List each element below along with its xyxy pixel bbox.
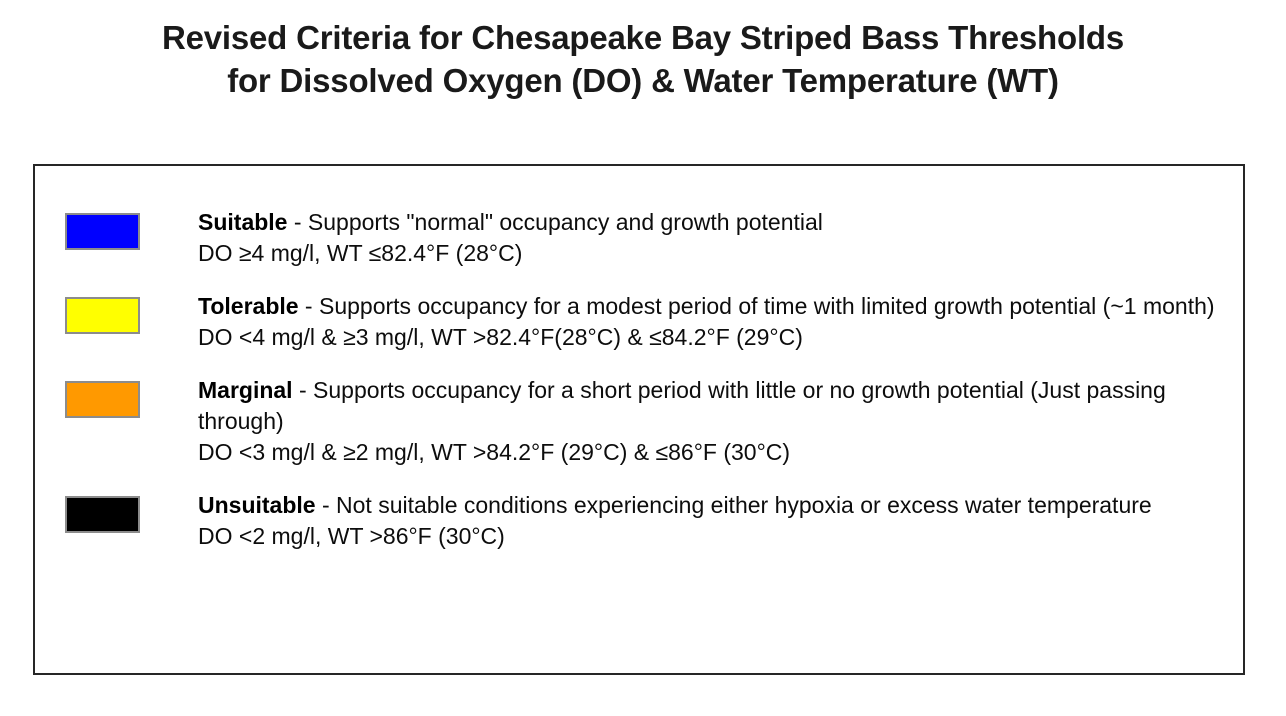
legend-item-marginal: Marginal - Supports occupancy for a shor… [65,375,1227,468]
legend-criteria: DO <3 mg/l & ≥2 mg/l, WT >84.2°F (29°C) … [198,437,1227,468]
legend-term: Tolerable [198,293,299,319]
legend-item-text: Suitable - Supports "normal" occupancy a… [198,207,1227,269]
legend-item-text: Unsuitable - Not suitable conditions exp… [198,490,1227,552]
legend-criteria: DO <4 mg/l & ≥3 mg/l, WT >82.4°F(28°C) &… [198,322,1227,353]
legend-description: Not suitable conditions experiencing eit… [336,492,1152,518]
legend-item-unsuitable: Unsuitable - Not suitable conditions exp… [65,490,1227,552]
swatch-unsuitable-icon [65,496,140,533]
page-title: Revised Criteria for Chesapeake Bay Stri… [40,16,1246,102]
page-title-line-2: for Dissolved Oxygen (DO) & Water Temper… [40,59,1246,102]
legend-item-text: Tolerable - Supports occupancy for a mod… [198,291,1227,353]
legend-term: Unsuitable [198,492,316,518]
swatch-marginal-icon [65,381,140,418]
legend-term: Suitable [198,209,287,235]
legend-criteria: DO ≥4 mg/l, WT ≤82.4°F (28°C) [198,238,1227,269]
legend-separator: - [287,209,307,235]
legend-separator: - [316,492,336,518]
legend-item-tolerable: Tolerable - Supports occupancy for a mod… [65,291,1227,353]
legend-criteria: DO <2 mg/l, WT >86°F (30°C) [198,521,1227,552]
legend-separator: - [293,377,313,403]
page-title-line-1: Revised Criteria for Chesapeake Bay Stri… [40,16,1246,59]
legend-term: Marginal [198,377,293,403]
swatch-suitable-icon [65,213,140,250]
legend-description: Supports occupancy for a modest period o… [319,293,1215,319]
legend-item-text: Marginal - Supports occupancy for a shor… [198,375,1227,468]
legend-description: Supports "normal" occupancy and growth p… [308,209,823,235]
legend-description: Supports occupancy for a short period wi… [198,377,1166,434]
legend-item-suitable: Suitable - Supports "normal" occupancy a… [65,207,1227,269]
legend-separator: - [299,293,319,319]
legend-panel: Suitable - Supports "normal" occupancy a… [33,164,1245,675]
swatch-tolerable-icon [65,297,140,334]
legend-list: Suitable - Supports "normal" occupancy a… [65,207,1227,552]
